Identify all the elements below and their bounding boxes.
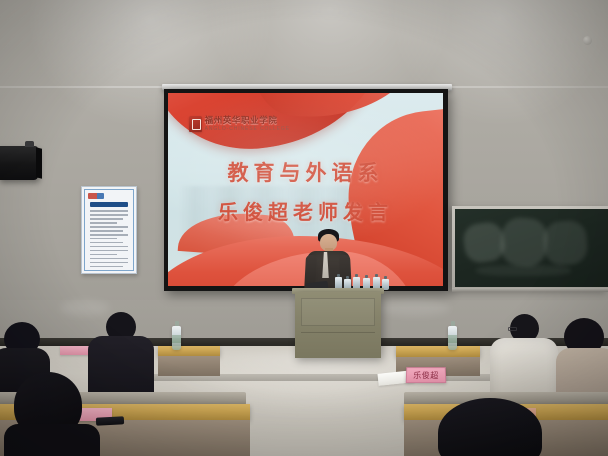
chalk-smudge bbox=[476, 265, 571, 276]
ceiling-fixture-icon bbox=[583, 36, 592, 45]
slide-title-line-1: 教育与外语系 bbox=[168, 157, 443, 187]
name-card-label: 乐俊超 bbox=[413, 370, 439, 381]
poster-title-bar bbox=[90, 202, 128, 207]
shield-logo-icon bbox=[189, 116, 202, 132]
logo-name-cn: 福州英华职业学院 bbox=[205, 116, 290, 125]
chalk-smudge bbox=[499, 216, 549, 268]
blackboard-surface bbox=[455, 209, 608, 287]
name-card: 乐俊超 bbox=[406, 367, 447, 383]
attendee-front-right bbox=[438, 398, 542, 456]
logo-name-en: ANGLO-CHINESE COLLEGE bbox=[205, 127, 290, 132]
attendee-torso bbox=[4, 424, 100, 456]
glasses-icon bbox=[508, 327, 517, 331]
podium-panel-lower bbox=[301, 332, 375, 353]
wall-notice-poster bbox=[81, 186, 137, 274]
slide-institution-logo: 福州英华职业学院 ANGLO-CHINESE COLLEGE bbox=[189, 116, 290, 132]
water-bottle bbox=[172, 326, 181, 350]
logo-text-block: 福州英华职业学院 ANGLO-CHINESE COLLEGE bbox=[205, 116, 290, 132]
podium bbox=[295, 292, 381, 358]
slide-title-line-2: 乐俊超老师发言 bbox=[168, 196, 443, 225]
slide-title-block: 教育与外语系 乐俊超老师发言 bbox=[168, 157, 443, 225]
wall-scuff bbox=[380, 300, 450, 316]
wall-speaker bbox=[0, 146, 38, 180]
phone bbox=[96, 416, 124, 425]
water-bottle bbox=[448, 326, 457, 350]
blackboard-chalk-rail bbox=[452, 288, 608, 292]
attendee-head bbox=[438, 398, 542, 456]
attendee-front-left bbox=[4, 372, 100, 456]
podium-panel-upper bbox=[301, 298, 375, 326]
chalk-smudge bbox=[542, 220, 588, 267]
desk-row1-right bbox=[396, 346, 480, 357]
desk-row1-left-side bbox=[158, 356, 220, 376]
blackboard bbox=[452, 206, 608, 290]
desk-row1-left bbox=[158, 346, 220, 356]
poster-logo-icon bbox=[88, 193, 104, 199]
poster-body-text bbox=[86, 210, 132, 267]
lecture-hall-photo: 福州英华职业学院 ANGLO-CHINESE COLLEGE 教育与外语系 乐俊… bbox=[0, 0, 608, 456]
chalk-smudge bbox=[462, 220, 507, 264]
